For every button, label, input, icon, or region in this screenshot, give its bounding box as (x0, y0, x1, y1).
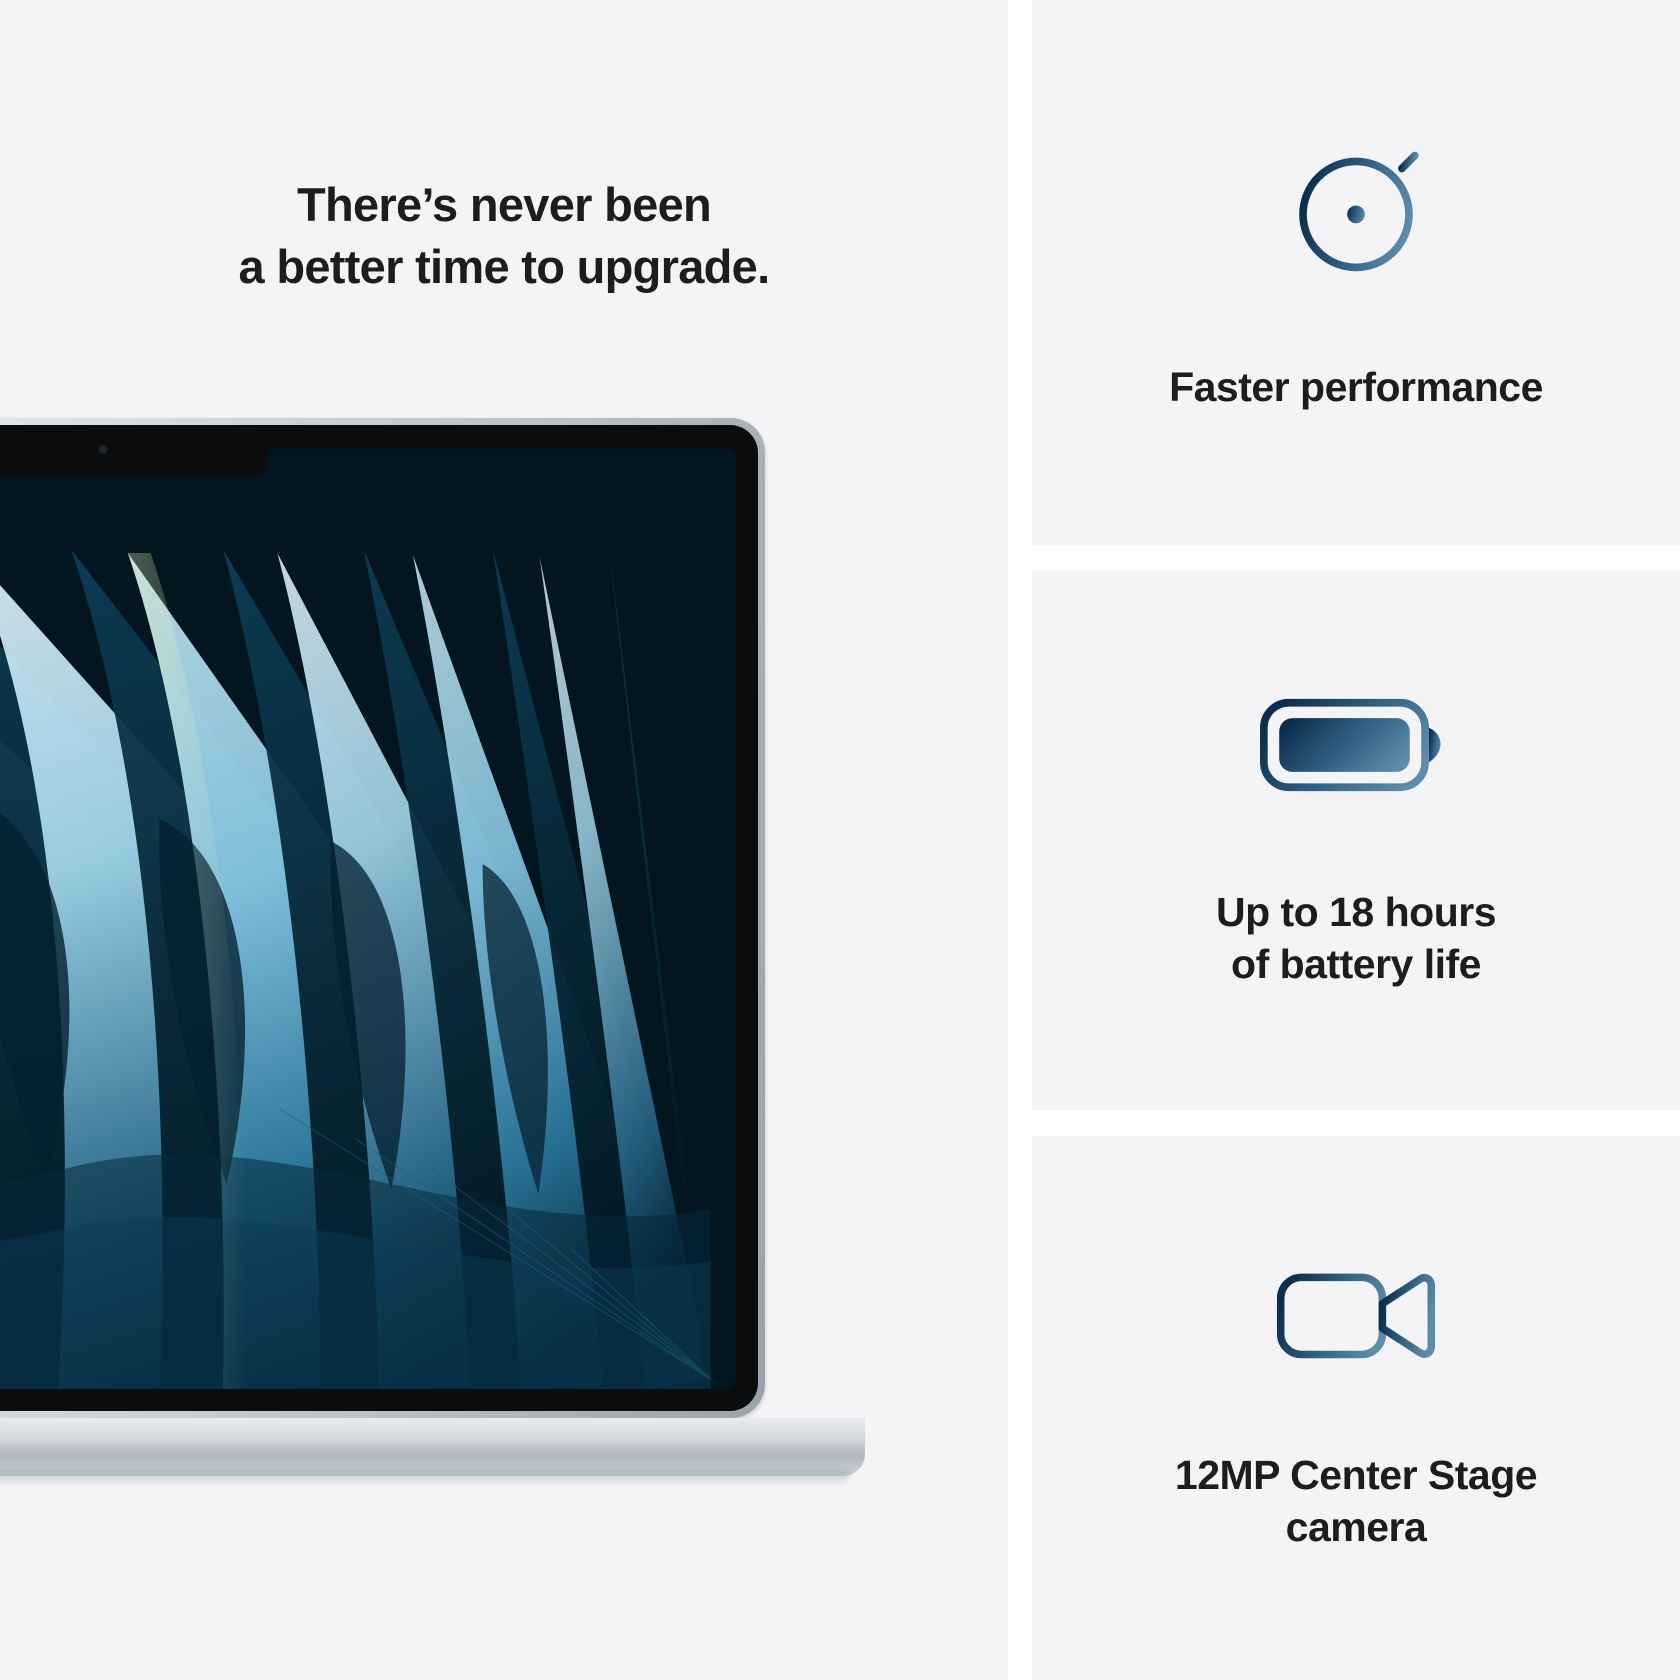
feature-card-camera[interactable]: 12MP Center Stage camera (1032, 1136, 1680, 1680)
feature-label-performance: Faster performance (1169, 362, 1543, 414)
feature-card-performance[interactable]: Faster performance (1032, 0, 1680, 545)
desktop-wallpaper-icon (0, 449, 736, 1389)
feature-highlights-column: Faster performance (1008, 0, 1680, 1680)
product-showcase-panel: There’s never been a better time to upgr… (0, 0, 1008, 1680)
feature-card-battery[interactable]: Up to 18 hours of battery life (1032, 571, 1680, 1110)
display-bezel (0, 425, 758, 1411)
webcam-icon (98, 445, 107, 454)
video-camera-icon (1276, 1262, 1436, 1368)
page-headline: There’s never been a better time to upgr… (0, 174, 1008, 296)
laptop-screen (0, 449, 736, 1389)
battery-full-icon (1260, 691, 1452, 799)
laptop-lid (0, 418, 765, 1418)
promo-page: There’s never been a better time to upgr… (0, 0, 1680, 1680)
macbook-product-image (0, 418, 865, 1528)
laptop-base (0, 1418, 865, 1476)
feature-label-camera: 12MP Center Stage camera (1175, 1450, 1537, 1553)
display-notch (0, 425, 268, 477)
laptop-base-shadow (0, 1470, 850, 1486)
stopwatch-icon (1283, 132, 1429, 278)
feature-label-battery: Up to 18 hours of battery life (1216, 887, 1496, 990)
